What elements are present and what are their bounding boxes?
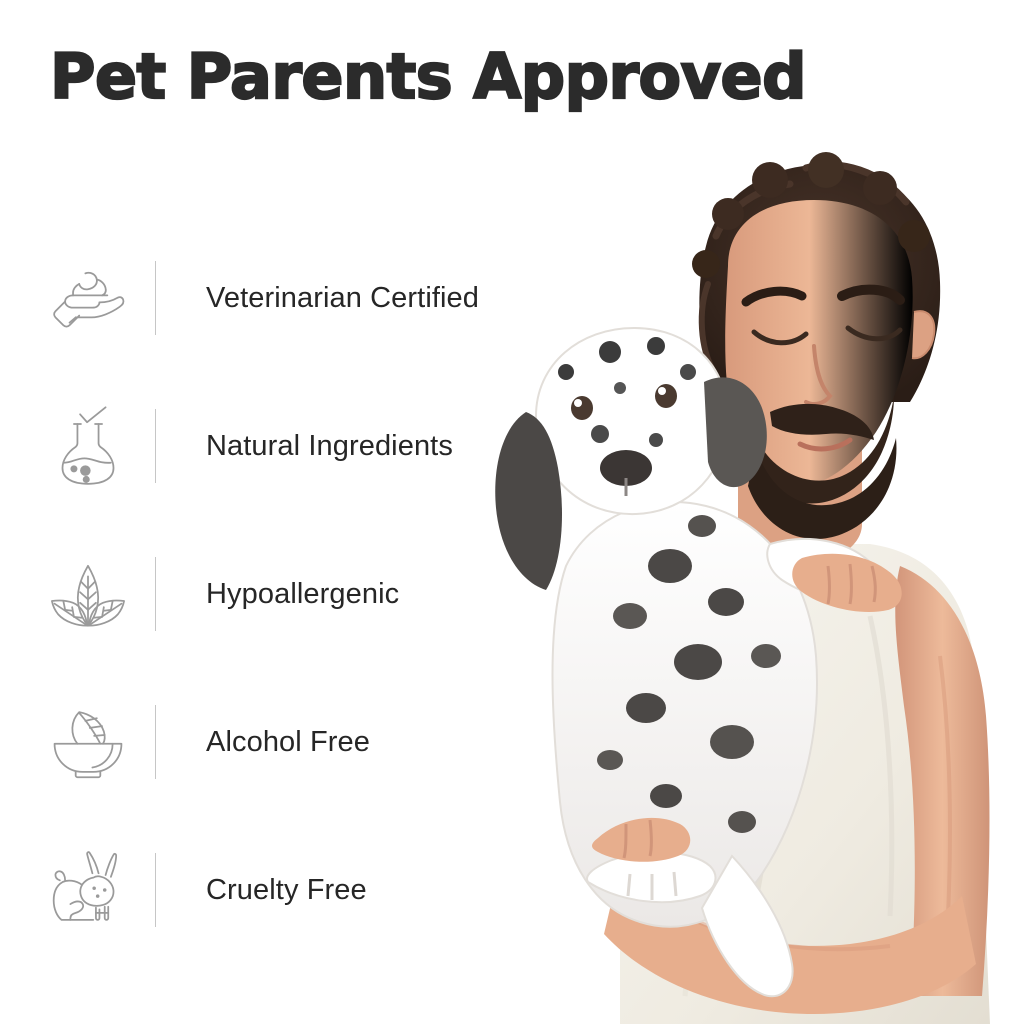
three-leaves-icon xyxy=(40,546,136,642)
feature-row-natural-ingredients: Natural Ingredients xyxy=(0,372,560,520)
feature-divider xyxy=(155,261,156,335)
feature-label: Natural Ingredients xyxy=(206,430,453,463)
feature-divider xyxy=(155,705,156,779)
feature-divider xyxy=(155,853,156,927)
feature-label: Cruelty Free xyxy=(206,874,367,907)
page-title: Pet Parents Approved xyxy=(50,46,806,108)
feature-row-hypoallergenic: Hypoallergenic xyxy=(0,520,560,668)
feature-divider xyxy=(155,409,156,483)
feature-row-cruelty-free: Cruelty Free xyxy=(0,816,560,964)
feature-label: Hypoallergenic xyxy=(206,578,399,611)
flask-check-icon xyxy=(40,398,136,494)
feature-label: Alcohol Free xyxy=(206,726,370,759)
feature-label: Veterinarian Certified xyxy=(206,282,479,315)
feature-row-alcohol-free: Alcohol Free xyxy=(0,668,560,816)
infographic-canvas: Pet Parents Approved Veterinarian Cert xyxy=(0,0,1024,1024)
feature-divider xyxy=(155,557,156,631)
hand-with-cream-icon xyxy=(40,250,136,346)
bowl-with-leaf-icon xyxy=(40,694,136,790)
rabbit-icon xyxy=(40,842,136,938)
feature-row-veterinarian-certified: Veterinarian Certified xyxy=(0,224,560,372)
feature-list: Veterinarian Certified Natural Ingredien… xyxy=(0,224,560,964)
